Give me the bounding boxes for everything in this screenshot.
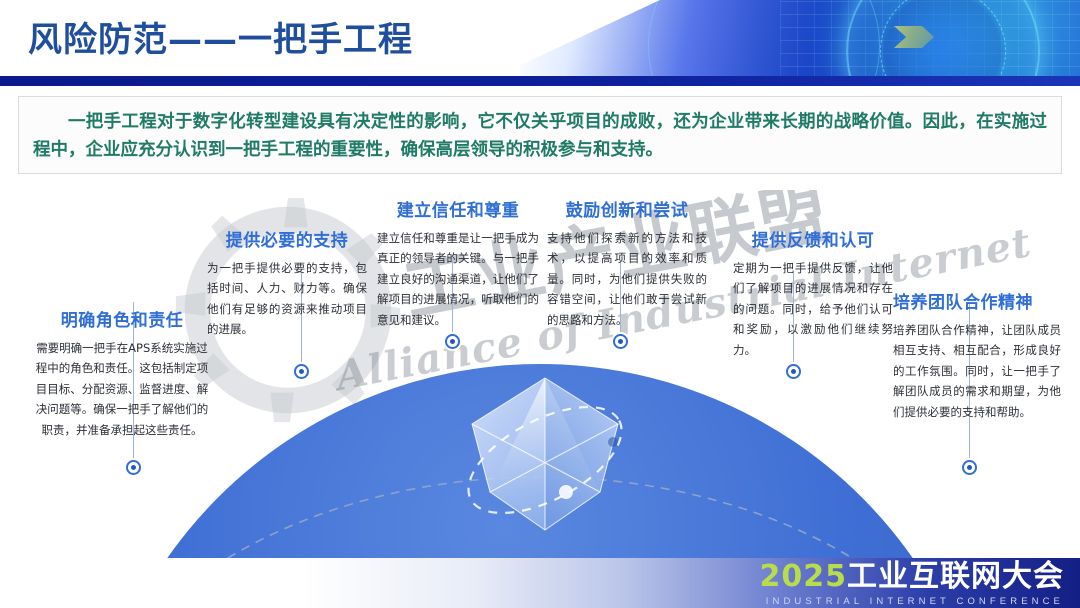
header-divider-bar [0,76,1080,86]
connector-dot [786,364,801,379]
connector-dot [126,460,141,475]
diagram-item-4[interactable]: 提供反馈和认可 定期为一把手提供反馈，让他们了解项目的进展情况和存在的问题。同时… [733,226,893,360]
logo-year: 2025 [760,559,848,594]
diagram-item-0[interactable]: 明确角色和责任 需要明确一把手在APS系统实施过程中的角色和责任。这包括制定项目… [34,306,210,440]
item-title: 培养团队合作精神 [893,288,1061,313]
diagram-item-1[interactable]: 提供必要的支持 为一把手提供必要的支持，包括时间、人力、财力等。确保他们有足够的… [207,226,367,340]
connector-dot [445,334,460,349]
item-title: 提供必要的支持 [207,226,367,251]
item-title: 明确角色和责任 [34,306,210,331]
item-body: 支持他们探索新的方法和技术，以提高项目的效率和质量。同时，为他们提供失败的容错空… [547,228,707,330]
item-body: 为一把手提供必要的支持，包括时间、人力、财力等。确保他们有足够的资源来推动项目的… [207,258,367,340]
lead-paragraph-box: 一把手工程对于数字化转型建设具有决定性的影响，它不仅关乎项目的成败，还为企业带来… [18,96,1062,174]
crystal-polyhedron-icon [450,372,640,552]
connector-dot [962,460,977,475]
item-body: 需要明确一把手在APS系统实施过程中的角色和责任。这包括制定项目目标、分配资源、… [34,338,210,440]
item-body: 建立信任和尊重是让一把手成为真正的领导者的关键。与一把手建立良好的沟通渠道，让他… [377,228,539,330]
logo-subtitle: INDUSTRIAL INTERNET CONFERENCE [760,596,1065,607]
diagram-item-2[interactable]: 建立信任和尊重 建立信任和尊重是让一把手成为真正的领导者的关键。与一把手建立良好… [377,196,539,330]
slide-header: 风险防范——一把手工程 [0,0,1080,86]
slide-root: 风险防范——一把手工程 一把手工程对于数字化转型建设具有决定性的影响，它不仅关乎… [0,0,1080,608]
page-title: 风险防范——一把手工程 [28,12,413,61]
item-body: 定期为一把手提供反馈，让他们了解项目的进展情况和存在的问题。同时，给予他们认可和… [733,258,893,360]
connector-dot [613,334,628,349]
connector-dot [294,364,309,379]
item-title: 鼓励创新和尝试 [547,196,707,221]
item-title: 建立信任和尊重 [377,196,539,221]
header-chevron-icon [894,26,934,48]
item-title: 提供反馈和认可 [733,226,893,251]
header-ring-icon [618,0,910,86]
conference-logo: 2025工业互联网大会 INDUSTRIAL INTERNET CONFEREN… [760,562,1065,607]
diagram-item-5[interactable]: 培养团队合作精神 培养团队合作精神，让团队成员相互支持、相互配合，形成良好的工作… [893,288,1061,422]
diagram-item-3[interactable]: 鼓励创新和尝试 支持他们探索新的方法和技术，以提高项目的效率和质量。同时，为他们… [547,196,707,330]
logo-cn: 工业互联网大会 [847,559,1064,594]
item-body: 培养团队合作精神，让团队成员相互支持、相互配合，形成良好的工作氛围。同时，让一把… [893,320,1061,422]
slide-footer: 2025工业互联网大会 INDUSTRIAL INTERNET CONFEREN… [0,558,1080,608]
logo-main-line: 2025工业互联网大会 [760,562,1065,592]
lead-paragraph-text: 一把手工程对于数字化转型建设具有决定性的影响，它不仅关乎项目的成败，还为企业带来… [33,108,1047,165]
